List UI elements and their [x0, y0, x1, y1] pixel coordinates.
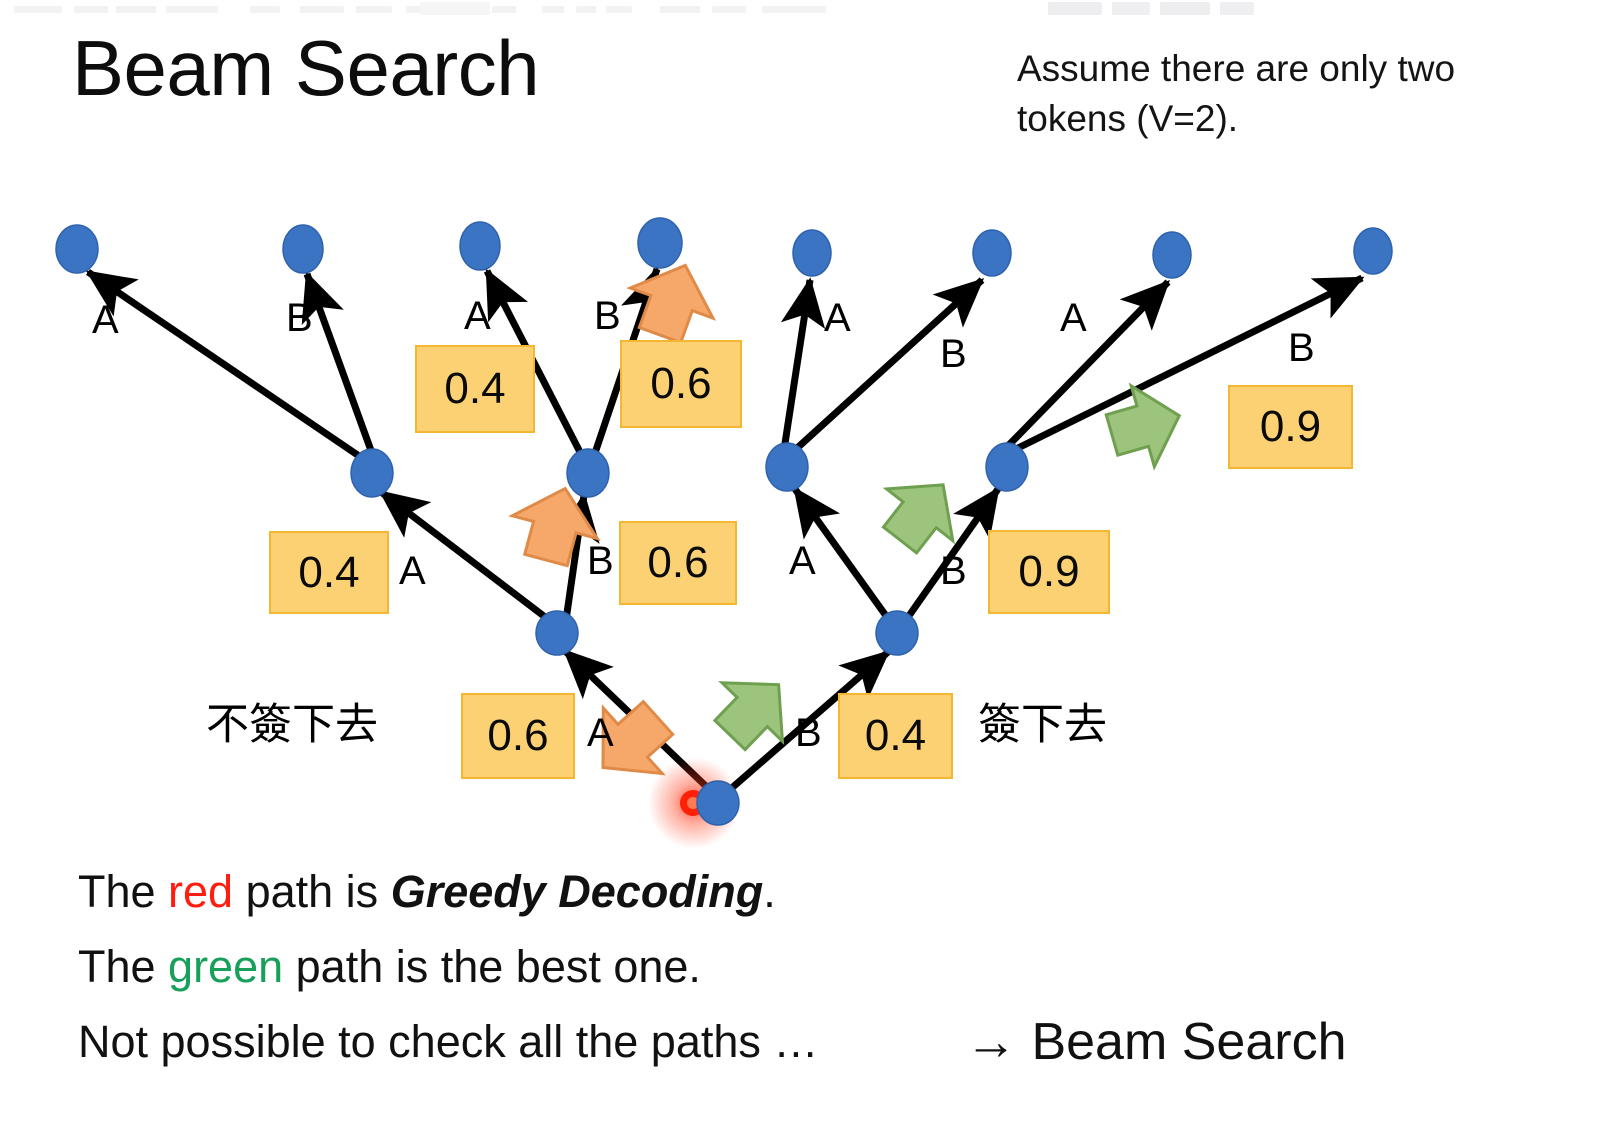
node-BBA: [1153, 232, 1191, 278]
edge-label-AB-ABB: B: [594, 296, 621, 336]
footer-beam-search-tag: → Beam Search: [965, 1015, 1347, 1069]
node-BBB: [1354, 228, 1392, 274]
node-AAA: [56, 225, 98, 273]
footer-line1-mid: path is: [233, 866, 391, 917]
footer-greedy-decoding: Greedy Decoding: [391, 866, 764, 917]
edge-BA-BAA: [784, 280, 810, 450]
footer-line-best: The green path is the best one.: [78, 943, 701, 991]
edge-label-A-AA: A: [399, 551, 426, 591]
annotation-right-cn: 簽下去: [978, 702, 1107, 748]
prob-box-AB-ABA: 0.4: [415, 345, 535, 433]
edge-label-BB-BBA: A: [1060, 298, 1087, 338]
footer-line1-pre: The: [78, 866, 168, 917]
green-arrow-BB-BBB: [1100, 375, 1190, 475]
node-AB: [567, 449, 609, 497]
edge-label-AB-ABA: A: [464, 296, 491, 336]
edge-label-BB-BBB: B: [1288, 328, 1315, 368]
slide-canvas: Beam Search Assume there are only two to…: [0, 0, 1613, 1129]
edge-label-B-BB: B: [940, 551, 967, 591]
footer-line1-end: .: [763, 866, 776, 917]
footer-green-word: green: [168, 941, 283, 992]
green-arrow-root-B: [700, 655, 809, 764]
edge-label-BA-BAA: A: [824, 298, 851, 338]
edge-label-root-B: B: [795, 713, 822, 753]
node-root: [697, 781, 739, 825]
footer-line-greedy: The red path is Greedy Decoding.: [78, 868, 776, 916]
footer-line2-end: path is the best one.: [283, 941, 701, 992]
edge-label-A-AB: B: [587, 541, 614, 581]
node-AAB: [283, 225, 323, 273]
prob-box-BB-BBB: 0.9: [1228, 385, 1353, 469]
node-BA: [766, 443, 808, 491]
edge-AA-AAA: [88, 272, 362, 458]
node-B: [876, 611, 918, 655]
prob-box-root-A: 0.6: [461, 693, 575, 779]
prob-box-A-AA: 0.4: [269, 531, 389, 614]
prob-box-B-BB: 0.9: [988, 530, 1110, 614]
footer-line2-pre: The: [78, 941, 168, 992]
node-A: [536, 611, 578, 655]
footer-line-paths: Not possible to check all the paths …: [78, 1018, 818, 1066]
footer-red-word: red: [168, 866, 233, 917]
prob-box-AB-ABB: 0.6: [620, 340, 742, 428]
node-BB: [986, 443, 1028, 491]
prob-box-root-B: 0.4: [838, 693, 953, 779]
node-AA: [351, 449, 393, 497]
edge-label-root-A: A: [587, 713, 614, 753]
node-BAA: [793, 230, 831, 276]
edge-label-AA-AAA: A: [92, 300, 119, 340]
prob-box-A-AB: 0.6: [619, 521, 737, 605]
node-BAB: [973, 230, 1011, 276]
node-ABB: [638, 218, 682, 268]
edge-label-BA-BAB: B: [940, 334, 967, 374]
edge-label-B-BA: A: [789, 541, 816, 581]
edge-label-AA-AAB: B: [286, 298, 313, 338]
annotation-left-cn: 不簽下去: [206, 702, 378, 748]
node-ABA: [460, 222, 500, 270]
